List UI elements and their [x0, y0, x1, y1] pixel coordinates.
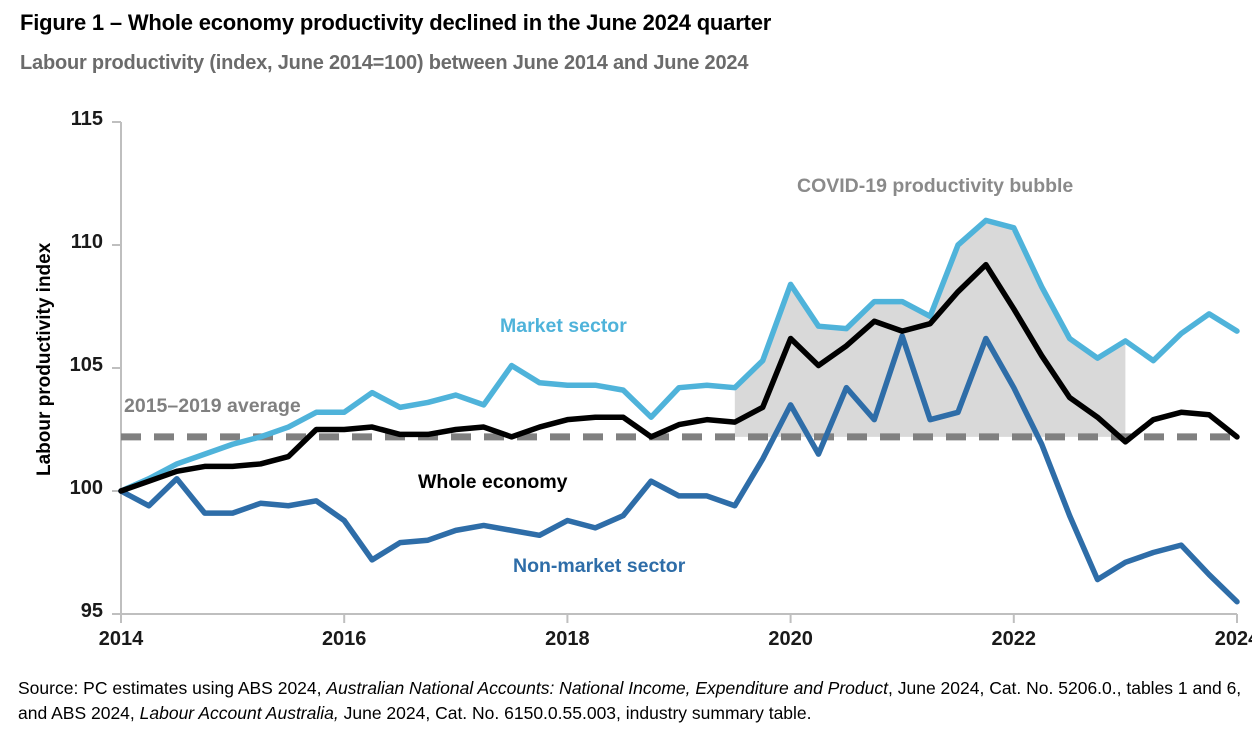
y-tick-label: 100 [43, 477, 103, 500]
y-tick-label: 110 [43, 231, 103, 254]
series-label-whole-economy: Whole economy [418, 471, 568, 494]
source-text-3: June 2024, Cat. No. 6150.0.55.003, indus… [339, 703, 812, 723]
source-text-1: Source: PC estimates using ABS 2024, [18, 678, 326, 698]
figure-title: Figure 1 – Whole economy productivity de… [20, 10, 771, 36]
figure-subtitle: Labour productivity (index, June 2014=10… [20, 52, 748, 75]
x-tick-label: 2014 [76, 628, 166, 651]
x-tick-label: 2022 [969, 628, 1059, 651]
x-tick-label: 2024 [1192, 628, 1252, 651]
y-tick-label: 95 [43, 600, 103, 623]
source-note: Source: PC estimates using ABS 2024, Aus… [18, 676, 1248, 727]
figure-page: Figure 1 – Whole economy productivity de… [0, 0, 1252, 747]
chart-canvas: Labour productivity index 95100105110115… [0, 95, 1252, 655]
x-tick-label: 2016 [299, 628, 389, 651]
x-tick-label: 2018 [522, 628, 612, 651]
x-tick-label: 2020 [746, 628, 836, 651]
source-italic-1: Australian National Accounts: National I… [326, 678, 888, 698]
source-italic-2: Labour Account Australia, [140, 703, 339, 723]
y-tick-label: 105 [43, 354, 103, 377]
series-label-non-market-sector: Non-market sector [513, 555, 685, 578]
annotation-average-line: 2015–2019 average [124, 395, 301, 418]
annotation-covid-bubble: COVID-19 productivity bubble [797, 175, 1073, 198]
series-label-market-sector: Market sector [500, 315, 627, 338]
y-tick-label: 115 [43, 108, 103, 131]
